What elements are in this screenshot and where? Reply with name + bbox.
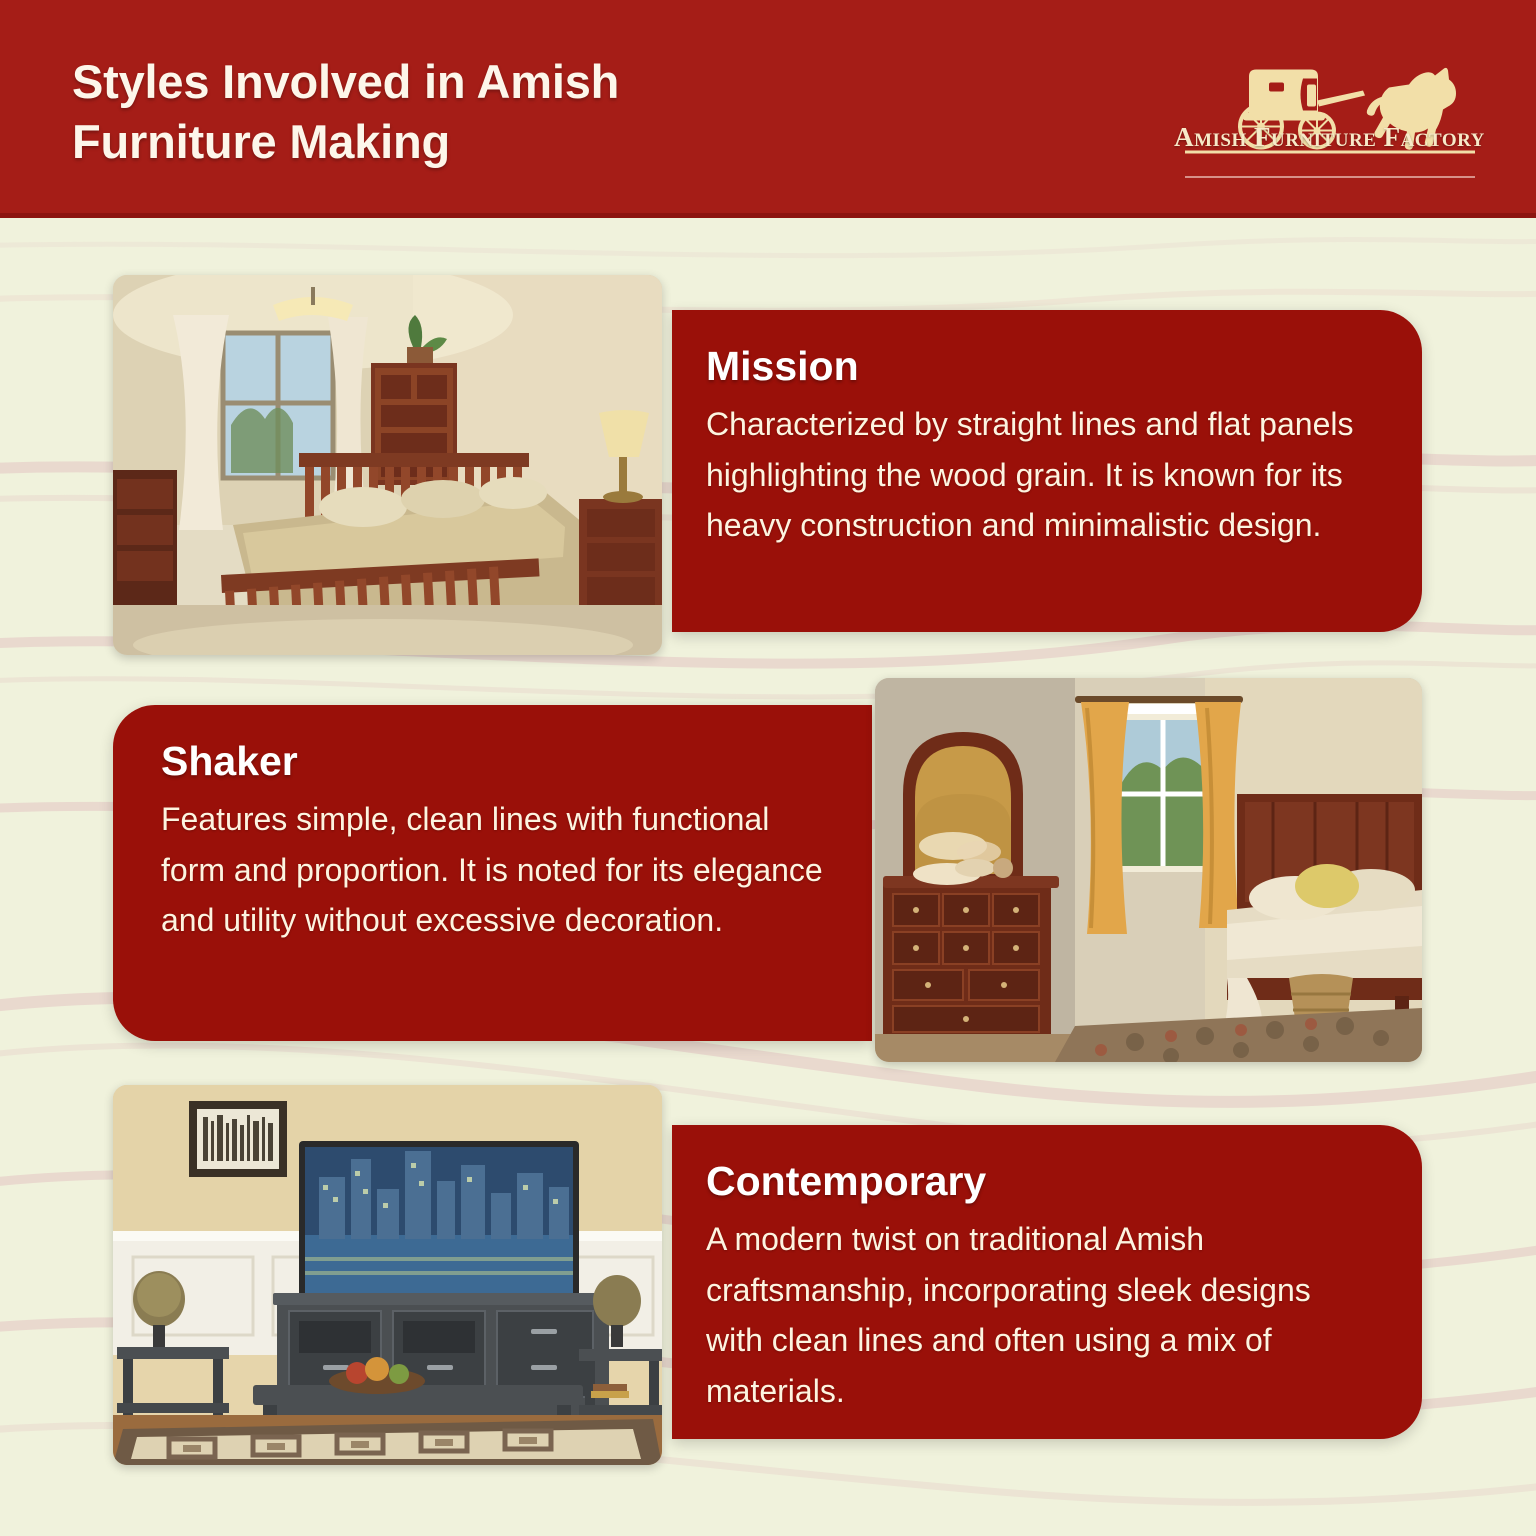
section-title-shaker: Shaker	[161, 739, 832, 784]
section-card-mission: Mission Characterized by straight lines …	[672, 310, 1422, 632]
section-card-contemporary: Contemporary A modern twist on tradition…	[672, 1125, 1422, 1439]
photo-contemporary-living-room	[113, 1085, 662, 1465]
page-title: Styles Involved in Amish Furniture Makin…	[72, 52, 772, 172]
contemporary-living-room-illustration	[113, 1085, 662, 1465]
horse-and-buggy-icon	[1157, 38, 1502, 183]
mission-bedroom-illustration	[113, 275, 662, 655]
section-body-shaker: Features simple, clean lines with functi…	[161, 794, 832, 946]
shaker-bedroom-illustration	[875, 678, 1422, 1062]
photo-shaker-bedroom	[875, 678, 1422, 1062]
photo-mission-bedroom	[113, 275, 662, 655]
section-card-shaker: Shaker Features simple, clean lines with…	[113, 705, 872, 1041]
section-body-contemporary: A modern twist on traditional Amish craf…	[706, 1214, 1370, 1416]
logo-wordmark: Amish Furniture Factory	[1157, 122, 1502, 153]
section-title-mission: Mission	[706, 344, 1370, 389]
brand-logo[interactable]: Amish Furniture Factory	[1157, 38, 1502, 183]
page-header: Styles Involved in Amish Furniture Makin…	[0, 0, 1536, 218]
section-body-mission: Characterized by straight lines and flat…	[706, 399, 1370, 551]
section-title-contemporary: Contemporary	[706, 1159, 1370, 1204]
logo-underline	[1185, 176, 1475, 180]
